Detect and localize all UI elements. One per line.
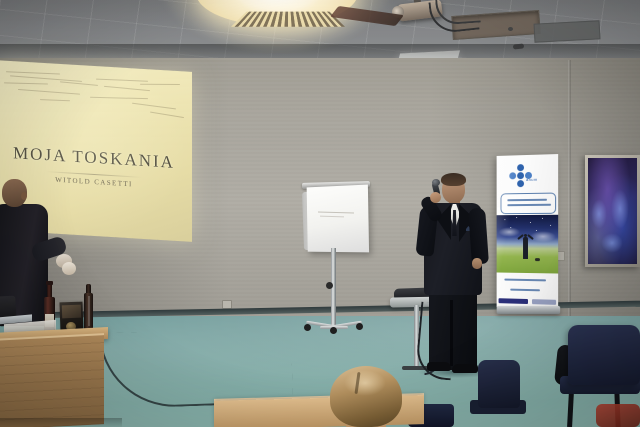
flipchart-paper (307, 185, 369, 253)
presentation-table-grain (0, 335, 104, 427)
ceiling-fixture-dot (508, 27, 513, 31)
lamp-grille (231, 12, 345, 27)
slide-title: MOJA TOSKANIA (0, 142, 192, 174)
framed-picture (585, 155, 640, 267)
chair-back-right (568, 325, 640, 385)
presenter-leg-split (450, 300, 453, 366)
foreground-red-object (596, 404, 640, 427)
left-person-ear (21, 192, 27, 200)
presenter-shoe-right (452, 364, 478, 373)
flipchart-base (306, 320, 364, 330)
presentation-table-shadow (0, 418, 122, 427)
slide-script-decoration (0, 66, 188, 119)
microphone-head-icon (432, 179, 440, 186)
second-bottle-highlight (88, 296, 90, 326)
wine-bottle-cap (46, 281, 53, 285)
wall-corner-edge (568, 60, 571, 318)
display-card-image (62, 305, 81, 319)
chair-back-middle (478, 360, 520, 408)
presenter-hair (441, 173, 466, 186)
banner-base-stand (497, 306, 561, 314)
presenter-legs (429, 290, 477, 370)
artwork-canvas (588, 158, 637, 264)
audience-person-hair-highlight (344, 370, 386, 396)
ceiling-lamp (196, 0, 358, 28)
left-person-hand-2 (62, 262, 76, 275)
ceiling-vent (534, 20, 601, 42)
rollup-banner: anum (497, 154, 559, 309)
presenter-hand-right (472, 258, 482, 269)
conference-room-photo: MOJA TOSKANIA WITOLD CASETTI anu (0, 0, 640, 427)
presenter-shoe-left (427, 362, 451, 371)
banner-light-reflection (497, 154, 559, 309)
flipchart-height-knob (326, 282, 333, 289)
